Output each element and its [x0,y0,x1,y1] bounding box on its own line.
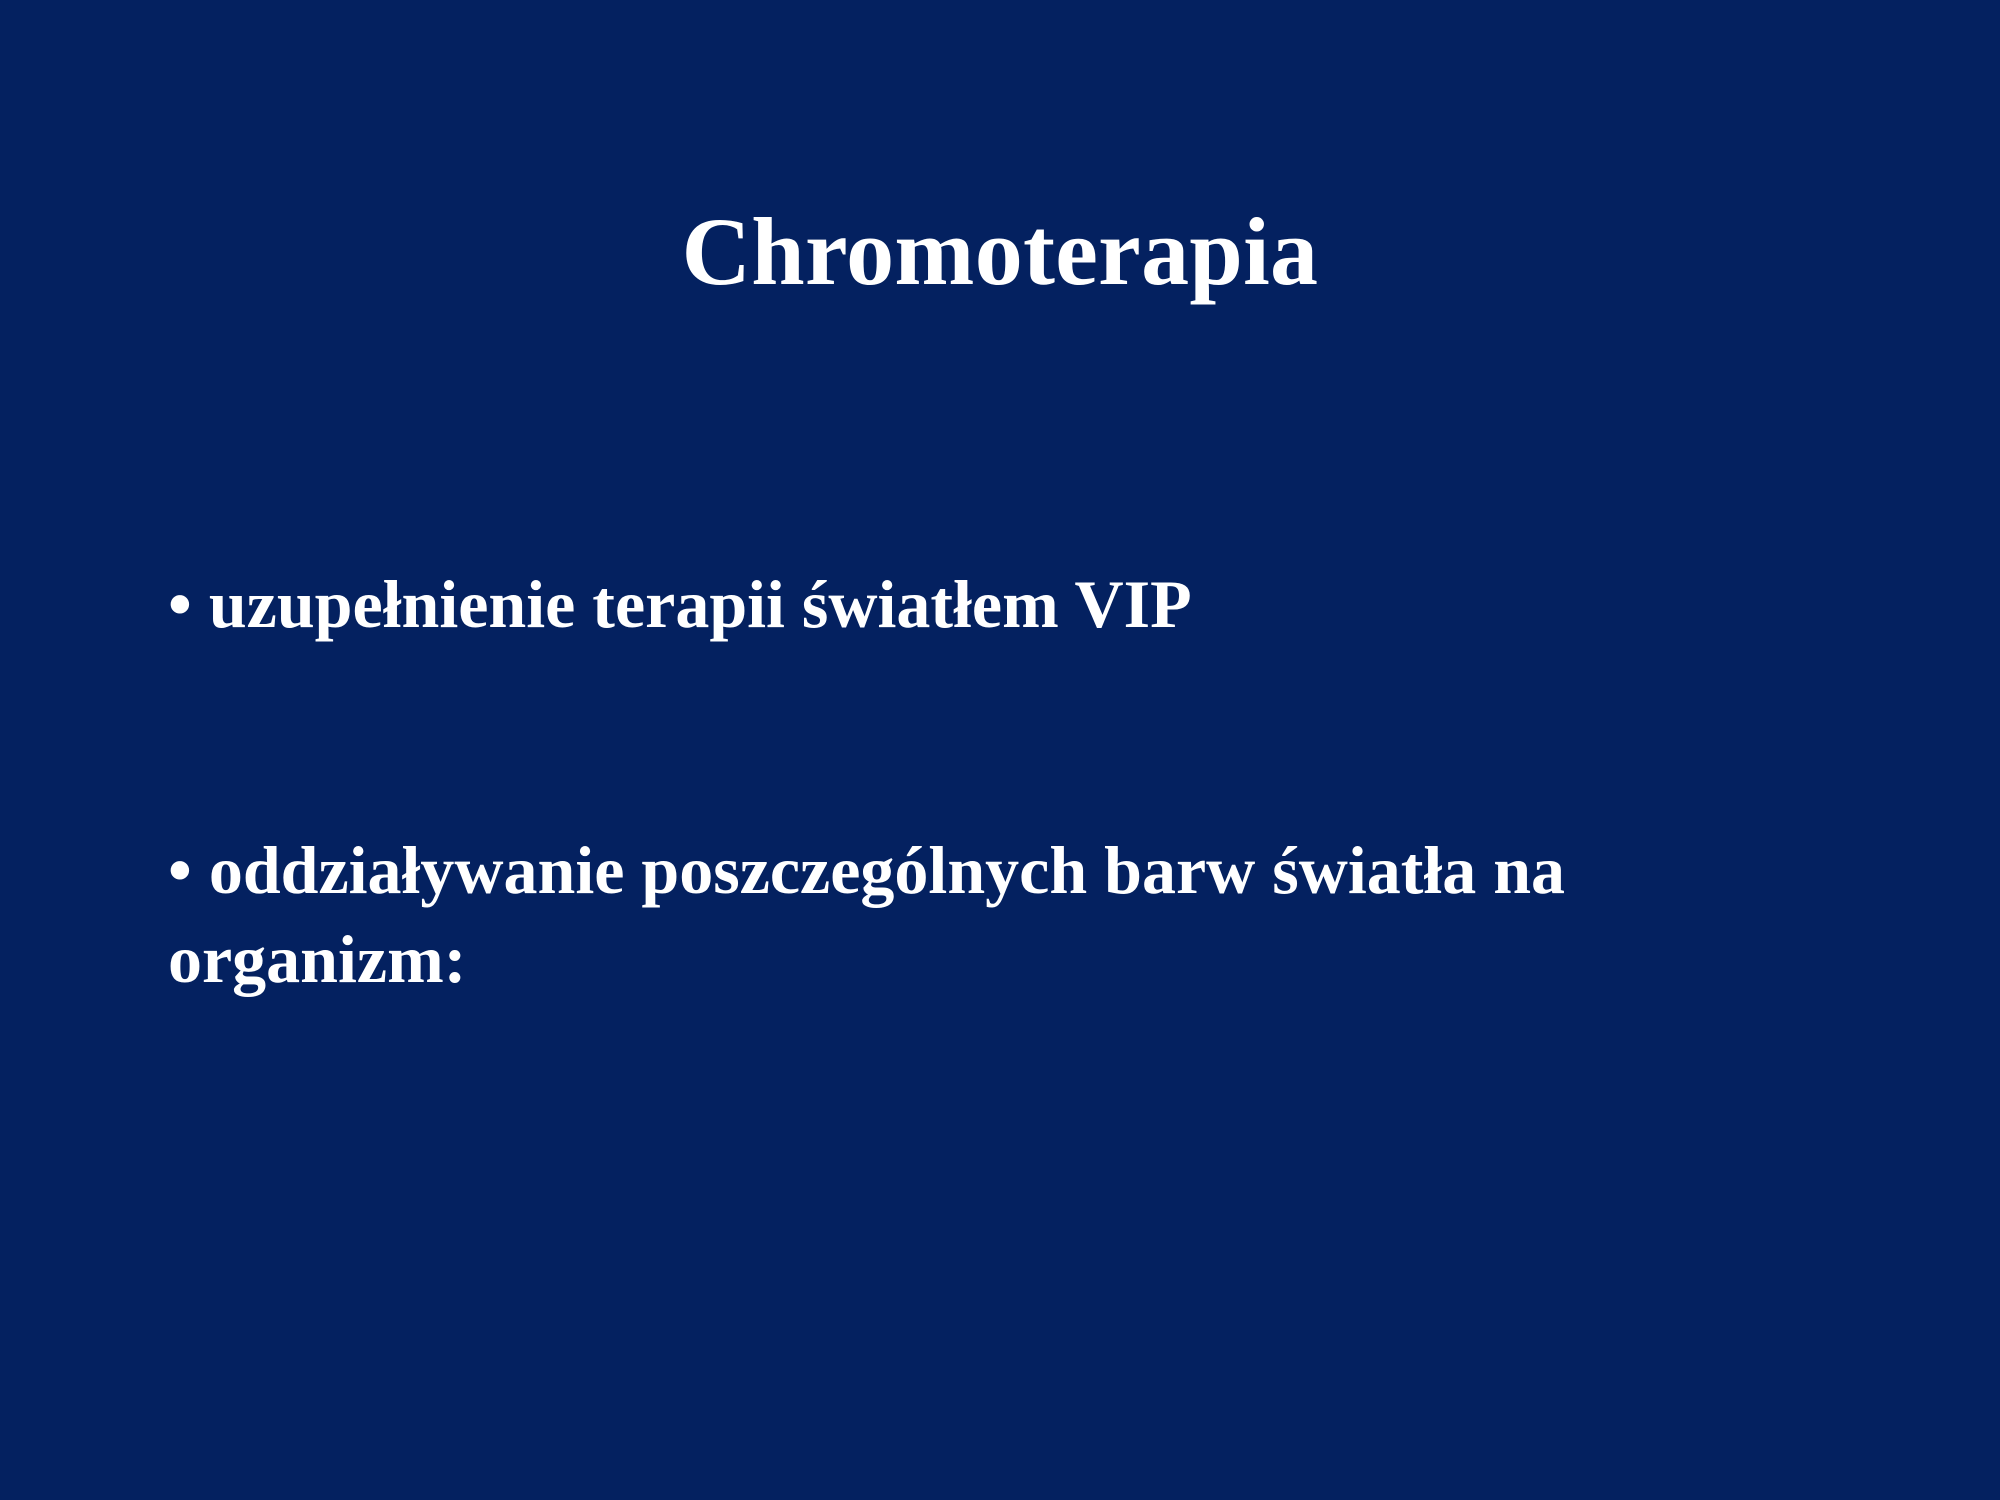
slide-body-content: • uzupełnienie terapii światłem VIP • od… [168,492,1788,1071]
list-item: • uzupełnienie terapii światłem VIP [168,560,1788,648]
bullet-marker-icon: • [168,566,209,642]
bullet-marker-icon: • [168,832,209,908]
list-item-label: uzupełnienie terapii światłem VIP [209,566,1192,642]
presentation-slide: Chromoterapia • uzupełnienie terapii świ… [0,0,2000,1500]
list-item: • oddziaływanie poszczególnych barw świa… [168,826,1788,1003]
page-title: Chromoterapia [0,202,2000,303]
list-item-label: oddziaływanie poszczególnych barw światł… [168,832,1565,996]
